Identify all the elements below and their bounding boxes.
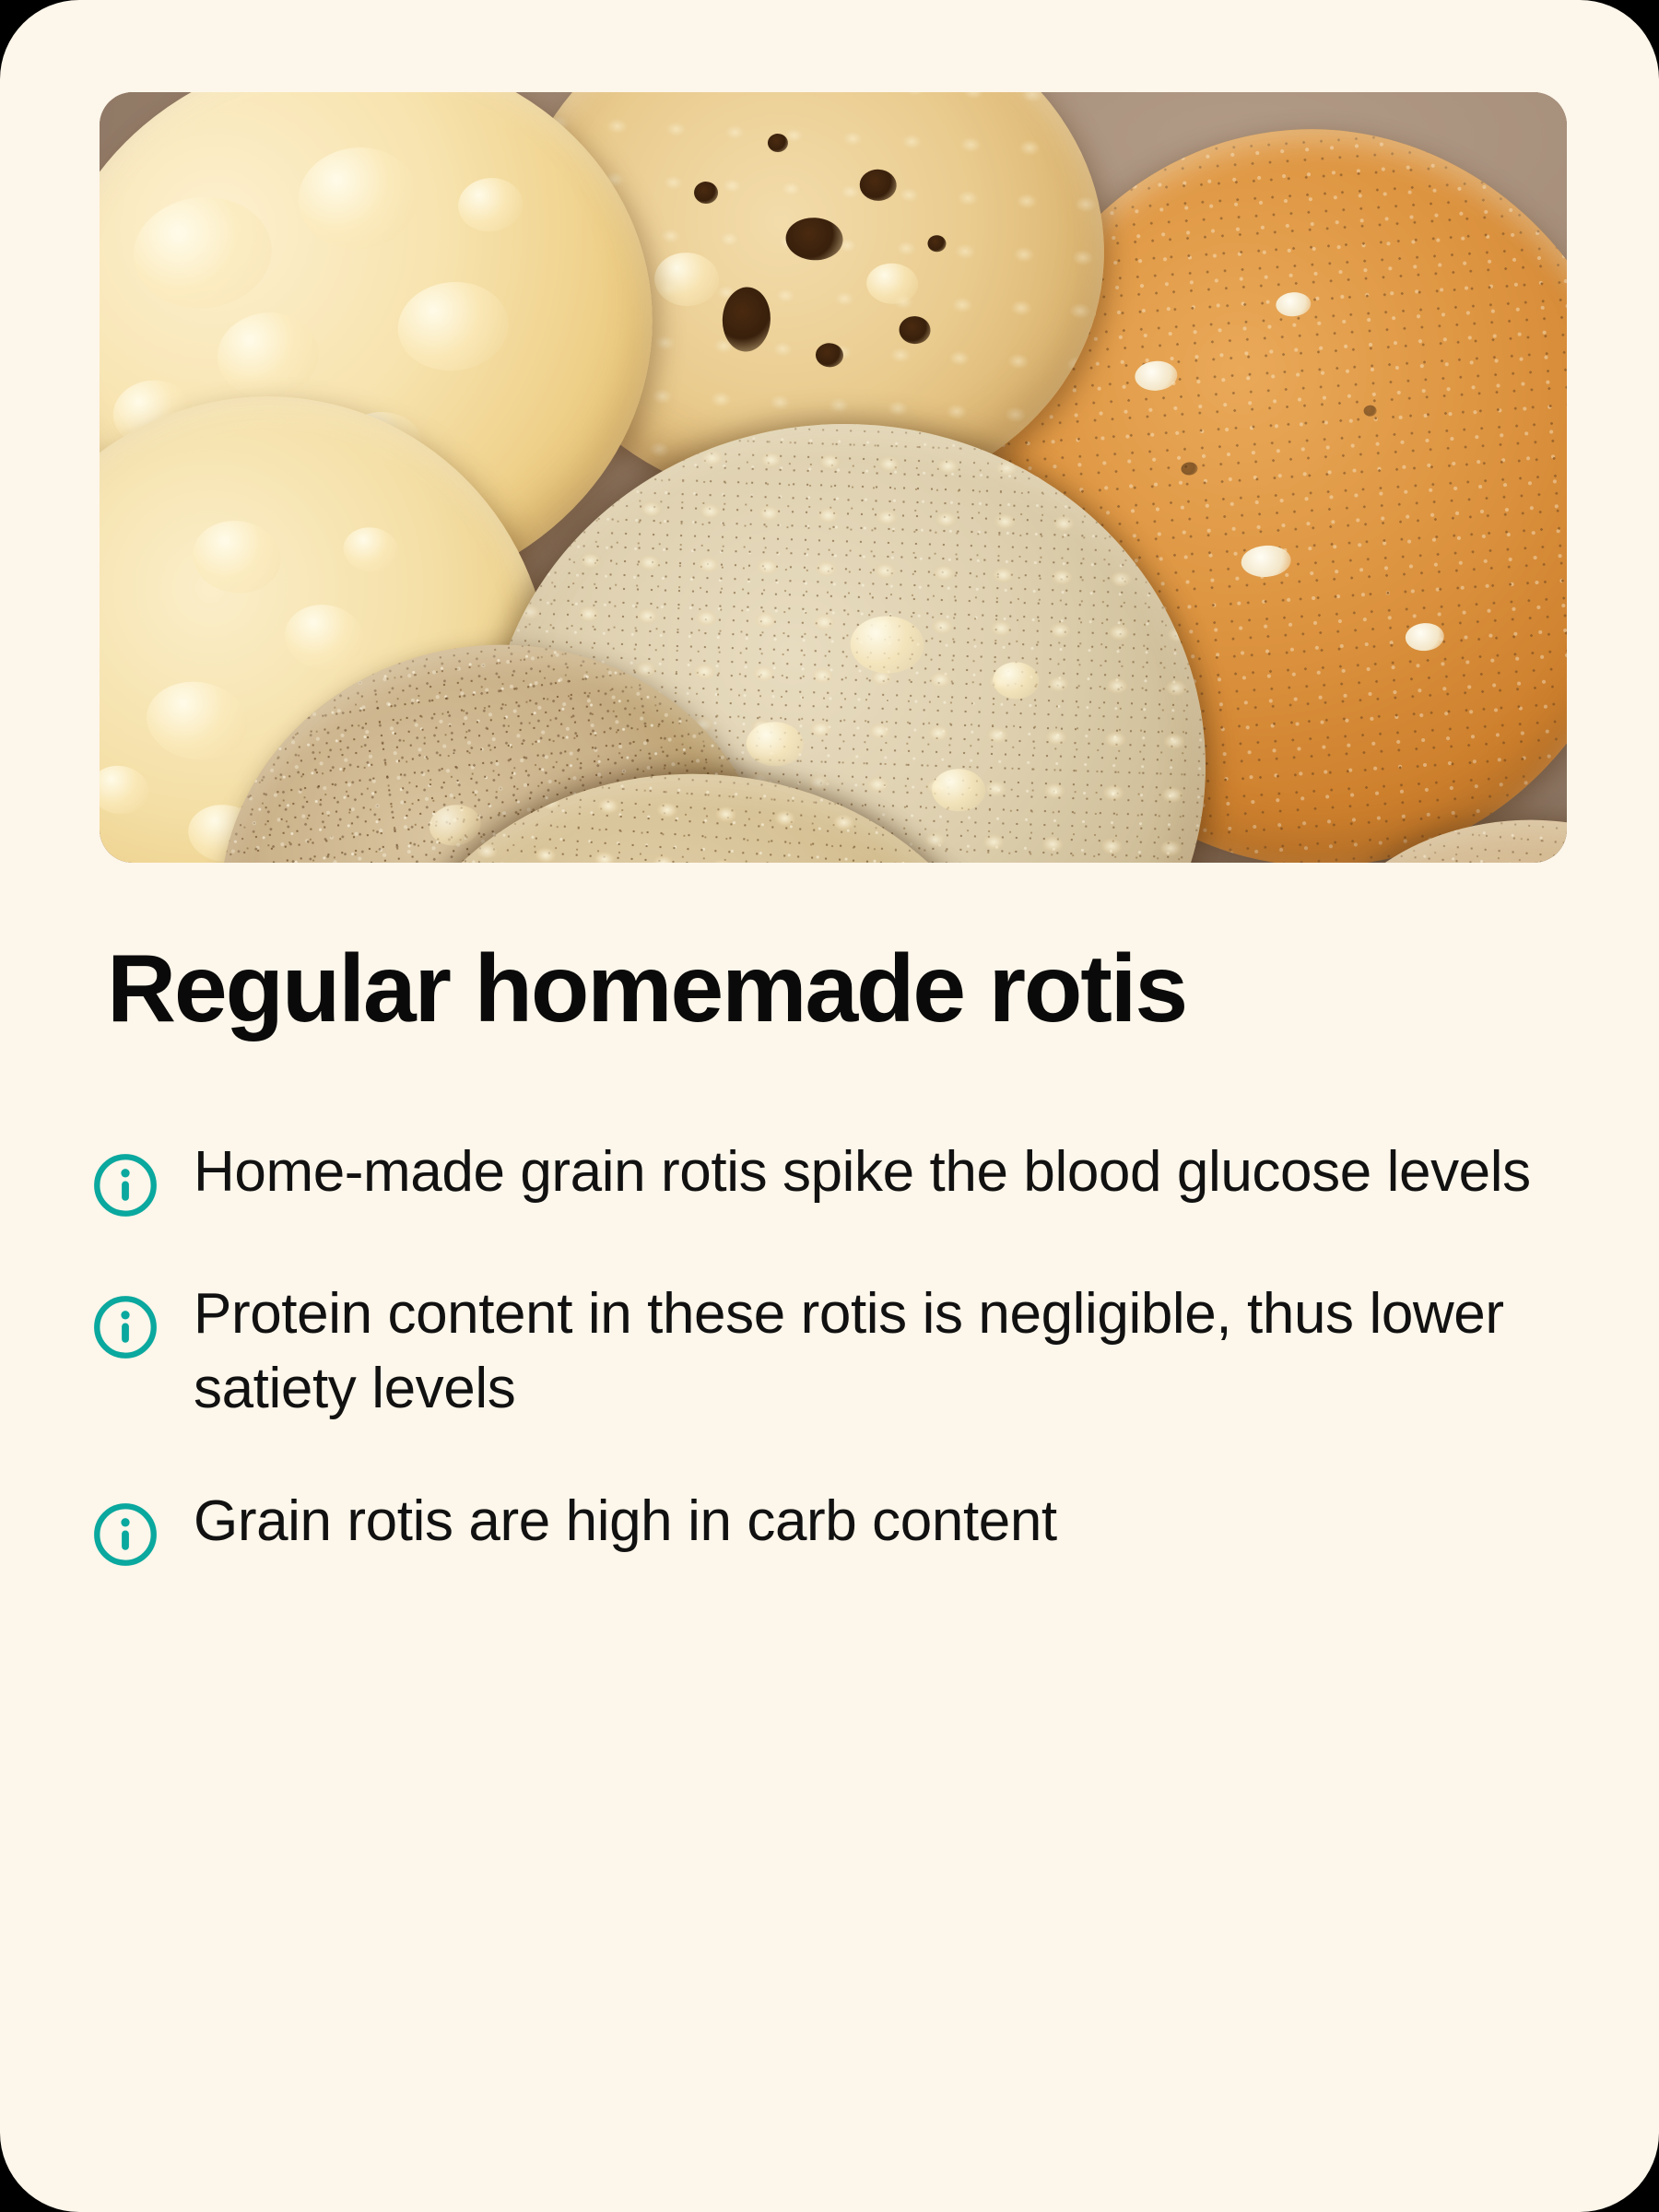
- info-circle-icon: [92, 1501, 159, 1568]
- page-title: Regular homemade rotis: [107, 936, 1600, 1041]
- list-item: Home-made grain rotis spike the blood gl…: [92, 1135, 1604, 1218]
- info-circle-icon: [92, 1152, 159, 1218]
- rotis-photo-canvas: [100, 92, 1567, 863]
- list-item: Grain rotis are high in carb content: [92, 1485, 1604, 1568]
- list-item: Protein content in these rotis is neglig…: [92, 1277, 1604, 1426]
- rotis-photo: [100, 92, 1567, 863]
- info-circle-icon: [92, 1294, 159, 1360]
- info-bullet-list: Home-made grain rotis spike the blood gl…: [92, 1135, 1604, 1627]
- list-item-label: Protein content in these rotis is neglig…: [194, 1277, 1576, 1426]
- info-card: Regular homemade rotis Home-made grain r…: [0, 0, 1659, 2212]
- list-item-label: Home-made grain rotis spike the blood gl…: [194, 1135, 1531, 1210]
- list-item-label: Grain rotis are high in carb content: [194, 1485, 1057, 1559]
